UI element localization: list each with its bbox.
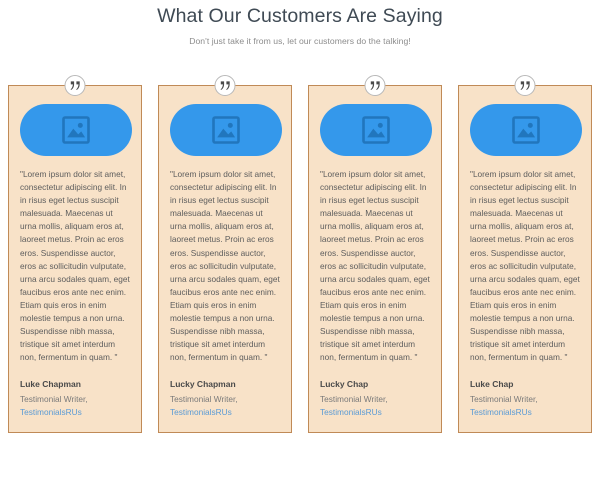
author-role: Testimonial Writer, <box>170 393 280 405</box>
page-subtitle: Don't just take it from us, let our cust… <box>0 36 600 46</box>
testimonial-quote: "Lorem ipsum dolor sit amet, consectetur… <box>20 168 130 364</box>
author-company-link[interactable]: TestimonialsRUs <box>20 406 130 418</box>
author-role: Testimonial Writer, <box>20 393 130 405</box>
testimonial-card: "Lorem ipsum dolor sit amet, consectetur… <box>8 85 142 433</box>
testimonial-quote: "Lorem ipsum dolor sit amet, consectetur… <box>320 168 430 364</box>
testimonial-card-list: "Lorem ipsum dolor sit amet, consectetur… <box>0 74 600 433</box>
quote-icon <box>365 75 386 96</box>
author-company-link[interactable]: TestimonialsRUs <box>470 406 580 418</box>
author-name: Lucky Chapman <box>170 378 280 390</box>
page-header: What Our Customers Are Saying Don't just… <box>0 0 600 46</box>
author-name: Luke Chap <box>470 378 580 390</box>
author-name: Luke Chapman <box>20 378 130 390</box>
testimonial-card: "Lorem ipsum dolor sit amet, consectetur… <box>308 85 442 433</box>
quote-icon <box>215 75 236 96</box>
author-role: Testimonial Writer, <box>470 393 580 405</box>
author-role: Testimonial Writer, <box>320 393 430 405</box>
testimonials-page: What Our Customers Are Saying Don't just… <box>0 0 600 479</box>
image-placeholder-icon <box>20 104 132 156</box>
testimonial-card: "Lorem ipsum dolor sit amet, consectetur… <box>458 85 592 433</box>
testimonial-author: Lucky Chap Testimonial Writer, Testimoni… <box>320 378 430 418</box>
quote-icon <box>65 75 86 96</box>
image-placeholder-icon <box>470 104 582 156</box>
testimonial-author: Luke Chap Testimonial Writer, Testimonia… <box>470 378 580 418</box>
quote-icon <box>515 75 536 96</box>
author-name: Lucky Chap <box>320 378 430 390</box>
testimonial-quote: "Lorem ipsum dolor sit amet, consectetur… <box>470 168 580 364</box>
image-placeholder-icon <box>320 104 432 156</box>
testimonial-card: "Lorem ipsum dolor sit amet, consectetur… <box>158 85 292 433</box>
testimonial-author: Luke Chapman Testimonial Writer, Testimo… <box>20 378 130 418</box>
author-company-link[interactable]: TestimonialsRUs <box>320 406 430 418</box>
testimonial-author: Lucky Chapman Testimonial Writer, Testim… <box>170 378 280 418</box>
testimonial-quote: "Lorem ipsum dolor sit amet, consectetur… <box>170 168 280 364</box>
image-placeholder-icon <box>170 104 282 156</box>
author-company-link[interactable]: TestimonialsRUs <box>170 406 280 418</box>
page-title: What Our Customers Are Saying <box>0 5 600 28</box>
